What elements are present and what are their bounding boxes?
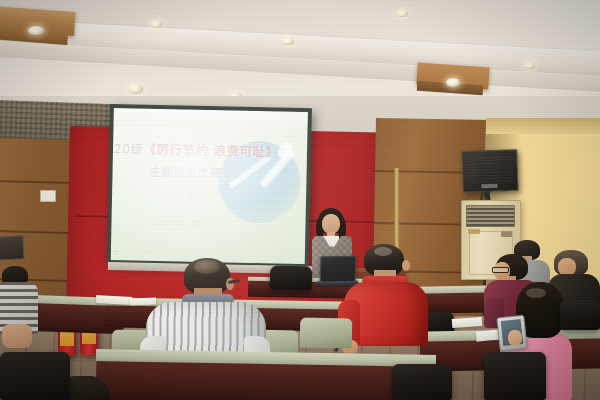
chair[interactable]: [560, 300, 600, 330]
wall-speaker-icon: [461, 149, 518, 193]
projector-glow: [111, 108, 308, 264]
chair[interactable]: [270, 266, 312, 291]
hair-highlight: [374, 247, 392, 256]
speaker-grill: [466, 154, 513, 183]
ac-display: [501, 231, 512, 237]
person-striped-left: [0, 266, 40, 362]
arm: [2, 324, 32, 348]
chair[interactable]: [484, 352, 546, 400]
chair[interactable]: [392, 364, 452, 400]
face: [322, 214, 340, 234]
downlight-icon: [150, 20, 163, 28]
downlight-icon: [524, 62, 535, 69]
glasses-icon: [228, 279, 240, 284]
downlight-icon: [446, 78, 460, 87]
glasses-icon: [492, 267, 509, 273]
curtain-rail: [486, 118, 600, 134]
chair[interactable]: [300, 318, 353, 349]
desk: [96, 361, 437, 400]
projection-surface: 20级《厉行节约 浪费可耻》 主题班会比赛 广播 2020年11月10日: [111, 108, 308, 264]
ear: [402, 260, 410, 271]
ac-brand-label: [468, 229, 480, 234]
wall-monitor: [0, 235, 25, 260]
light-switch-plate[interactable]: [40, 190, 56, 202]
ac-vent-grill: [466, 205, 515, 227]
hair-highlight: [526, 288, 546, 298]
downlight-icon: [28, 26, 44, 35]
downlight-icon: [396, 10, 408, 17]
downlight-icon: [128, 84, 143, 94]
classroom-scene: 20级《厉行节约 浪费可耻》 主题班会比赛 广播 2020年11月10日: [0, 0, 600, 400]
hair-thinning-patch: [194, 260, 220, 274]
projection-screen: 20级《厉行节约 浪费可耻》 主题班会比赛 广播 2020年11月10日: [107, 104, 312, 268]
downlight-icon: [282, 38, 294, 45]
hand: [508, 330, 522, 346]
chair[interactable]: [0, 352, 70, 400]
